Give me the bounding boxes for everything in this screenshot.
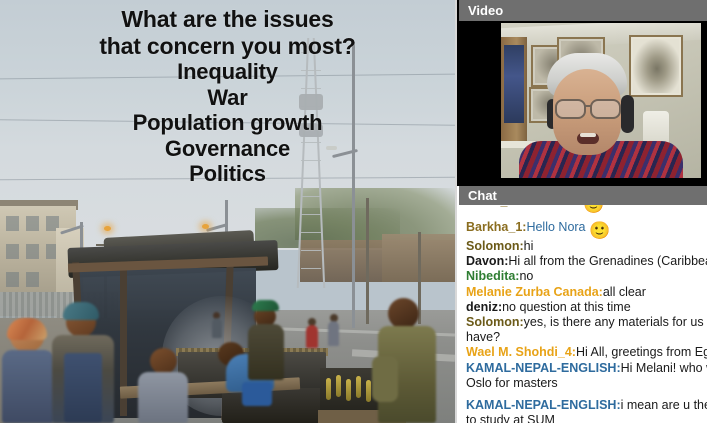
chat-message: Wael M. Shohdi_4:Hi All, greetings from … <box>466 345 707 360</box>
chat-spacer <box>466 391 707 398</box>
chat-message: Melanie Zurba Canada:all clear <box>466 285 707 300</box>
chat-message-text: no question at this time <box>502 300 631 314</box>
chat-spacer <box>466 213 707 220</box>
chat-message-continuation: have? <box>466 330 707 345</box>
slide-item-inequality: Inequality <box>0 59 455 85</box>
right-panel-column: Video <box>455 0 707 423</box>
chat-username: Nibedita: <box>466 269 519 283</box>
chat-username: KAMAL-NEPAL-ENGLISH: <box>466 361 621 375</box>
chat-message-text: yes, is there any materials for us t <box>524 315 707 329</box>
utility-pole <box>366 198 369 324</box>
chat-username: KAMAL-NEPAL-ENGLISH: <box>466 398 621 412</box>
shared-slide-area: What are the issues that concern you mos… <box>0 0 455 423</box>
slide-item-war: War <box>0 85 455 111</box>
person-face <box>545 53 629 159</box>
slide-item-politics: Politics <box>0 161 455 187</box>
headset-earpiece <box>621 95 634 133</box>
person-green-cap <box>246 300 286 380</box>
slide-item-population-growth: Population growth <box>0 110 455 136</box>
person-teeth <box>580 133 596 137</box>
video-panel: Video <box>455 0 707 186</box>
chat-panel: Youth_Coordinator:🙂Barkha_1:Hello Nora 🙂… <box>455 186 707 423</box>
chat-message-log[interactable]: Youth_Coordinator:🙂Barkha_1:Hello Nora 🙂… <box>459 194 707 423</box>
chat-message-continuation: to study at SUM <box>466 413 707 423</box>
table-lamp <box>643 111 669 145</box>
street-lamp-glow <box>104 226 111 231</box>
slide-item-governance: Governance <box>0 136 455 162</box>
video-panel-title: Video <box>459 0 707 21</box>
chat-username: Solomon: <box>466 239 524 253</box>
chat-username: Davon: <box>466 254 508 268</box>
chat-message: Nibedita:no <box>466 269 707 284</box>
person-vendor-headscarf <box>2 322 54 423</box>
person-distant-walker <box>306 318 318 348</box>
video-stage[interactable] <box>459 21 707 186</box>
chat-message: Solomon:yes, is there any materials for … <box>466 315 707 330</box>
chat-message: deniz:no question at this time <box>466 300 707 315</box>
eyeglass-bridge <box>584 105 592 107</box>
chat-message: Barkha_1:Hello Nora 🙂 <box>466 220 707 239</box>
person-distant-walker <box>328 314 339 346</box>
chat-panel-title: Chat <box>459 186 707 205</box>
chat-username: Melanie Zurba Canada: <box>466 285 603 299</box>
chat-message-text: i mean are u the <box>621 398 707 412</box>
wall-picture-bird <box>629 35 683 97</box>
slide-question-line2: that concern you most? <box>0 33 455 60</box>
chat-message: KAMAL-NEPAL-ENGLISH:i mean are u the <box>466 398 707 413</box>
webcam-feed[interactable] <box>501 23 701 178</box>
smiley-icon: 🙂 <box>589 222 610 239</box>
books <box>504 45 524 123</box>
chat-message: Davon:Hi all from the Grenadines (Caribb… <box>466 254 707 269</box>
person-vendor-blue-apron <box>50 305 116 423</box>
chat-message-text: no <box>519 269 533 283</box>
eyeglass-left <box>555 99 586 119</box>
person-seated-cook <box>138 348 188 423</box>
chat-username: Solomon: <box>466 315 524 329</box>
chat-message-text: hi <box>524 239 534 253</box>
person-green-jacket-right <box>378 298 436 423</box>
chat-message-text: all clear <box>603 285 646 299</box>
slide-text-overlay: What are the issues that concern you mos… <box>0 6 455 187</box>
chat-username: deniz: <box>466 300 502 314</box>
chat-username: Barkha_1: <box>466 220 526 234</box>
chat-message-text: Hello Nora <box>526 220 589 234</box>
slide-question-line1: What are the issues <box>0 6 455 33</box>
eyeglass-right <box>590 99 621 119</box>
street-lamp-glow <box>202 224 209 229</box>
application-window: What are the issues that concern you mos… <box>0 0 707 423</box>
chat-message-text: Hi All, greetings from Egy <box>576 345 707 359</box>
chat-message: Solomon:hi <box>466 239 707 254</box>
chat-message-text: Hi all from the Grenadines (Caribbea <box>508 254 707 268</box>
chat-message-text: Hi Melani! who w <box>621 361 707 375</box>
chat-message-continuation: Oslo for masters <box>466 376 707 391</box>
chat-username: Wael M. Shohdi_4: <box>466 345 576 359</box>
person-distant-walker <box>212 312 222 338</box>
chat-message: KAMAL-NEPAL-ENGLISH:Hi Melani! who w <box>466 361 707 376</box>
